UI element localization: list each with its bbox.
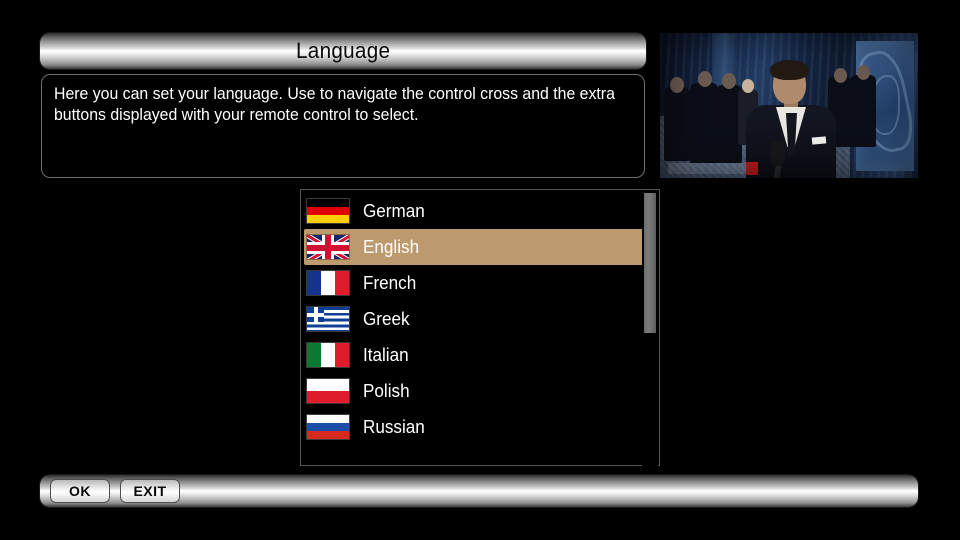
video-preview[interactable] xyxy=(660,33,918,178)
list-item-label: German xyxy=(363,201,425,222)
flag-germany-icon xyxy=(306,198,350,224)
language-list: German English French Greek xyxy=(304,193,644,445)
title-bar: Language xyxy=(40,33,646,69)
list-item-label: Italian xyxy=(363,345,409,366)
flag-poland-icon xyxy=(306,378,350,404)
page-title: Language xyxy=(296,38,390,64)
flag-united-kingdom-icon xyxy=(306,234,350,260)
list-item[interactable]: Greek xyxy=(304,301,644,337)
flag-italy-icon xyxy=(306,342,350,368)
scrollbar-thumb[interactable] xyxy=(644,193,656,333)
tv-settings-screen: Language Here you can set your language.… xyxy=(0,0,960,540)
list-item-label: French xyxy=(363,273,416,294)
flag-france-icon xyxy=(306,270,350,296)
exit-button[interactable]: EXIT xyxy=(120,479,180,503)
video-vignette xyxy=(660,33,918,178)
description-text: Here you can set your language. Use to n… xyxy=(54,84,631,126)
language-list-panel[interactable]: German English French Greek xyxy=(300,189,660,466)
list-item-label: Greek xyxy=(363,309,410,330)
description-box: Here you can set your language. Use to n… xyxy=(41,74,645,178)
list-item-label: English xyxy=(363,237,419,258)
list-item-label: Polish xyxy=(363,381,410,402)
list-item[interactable]: Polish xyxy=(304,373,644,409)
list-item[interactable]: Italian xyxy=(304,337,644,373)
scrollbar-track[interactable] xyxy=(642,191,658,466)
flag-greece-icon xyxy=(306,306,350,332)
list-item-label: Russian xyxy=(363,417,425,438)
footer-bar: OK EXIT xyxy=(40,475,918,507)
list-item[interactable]: German xyxy=(304,193,644,229)
ok-button[interactable]: OK xyxy=(50,479,110,503)
list-item-selected[interactable]: English xyxy=(304,229,644,265)
list-item[interactable]: French xyxy=(304,265,644,301)
list-item[interactable]: Russian xyxy=(304,409,644,445)
flag-russia-icon xyxy=(306,414,350,440)
